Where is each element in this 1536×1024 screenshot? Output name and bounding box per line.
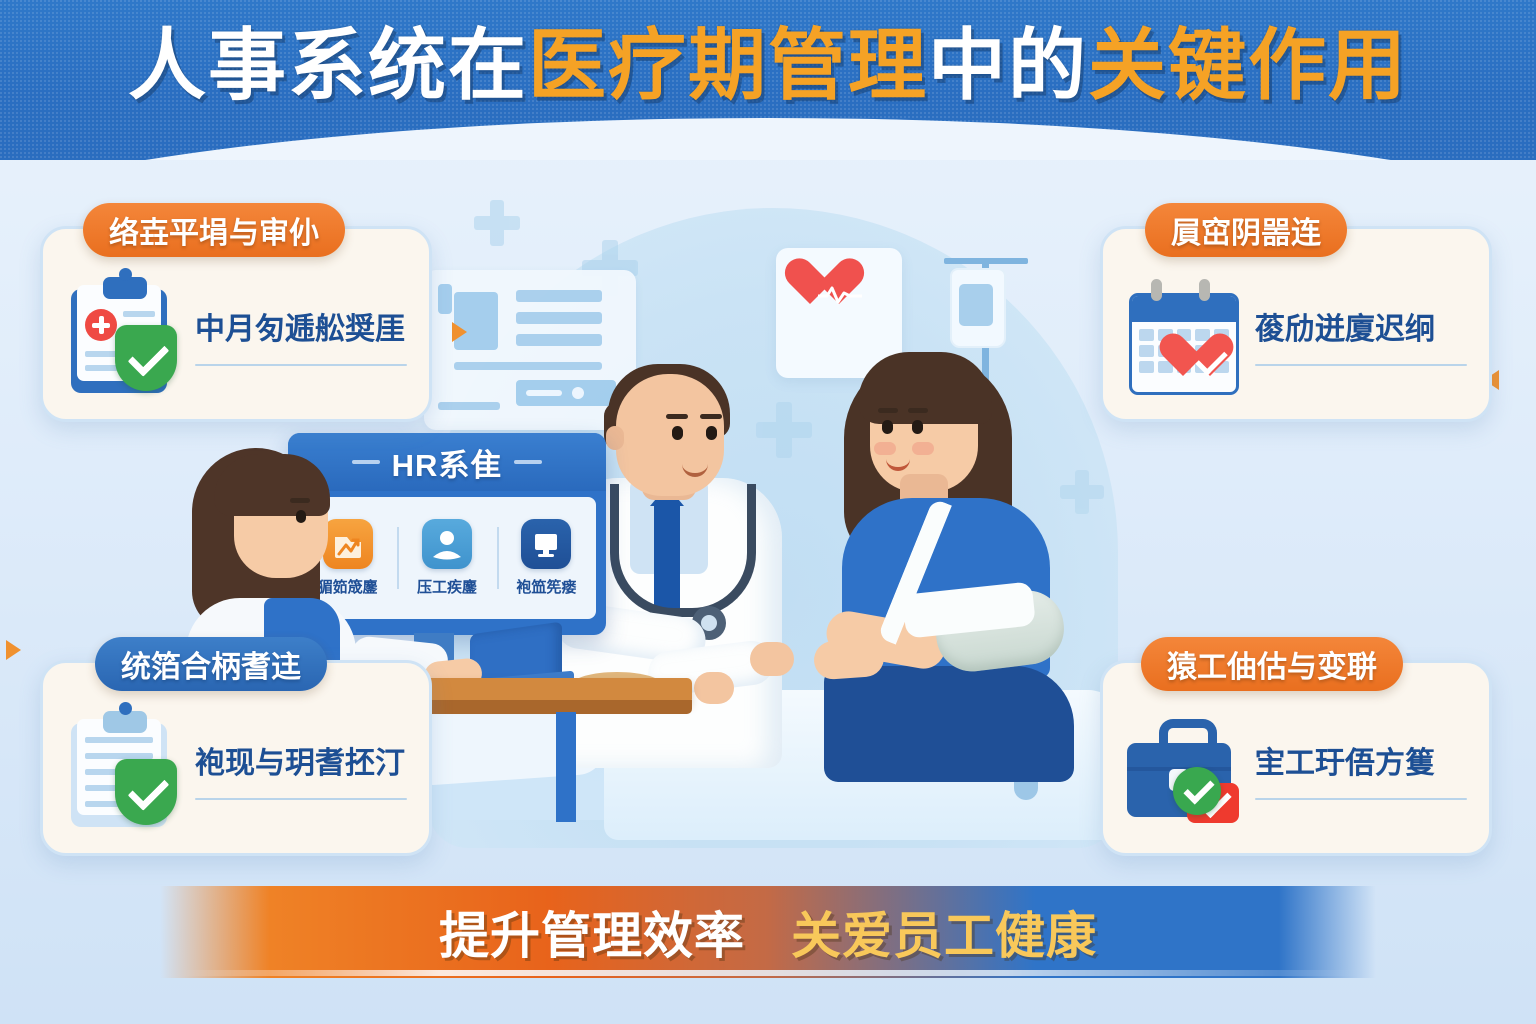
- banner-right-text: 关爱员工健康: [791, 896, 1097, 968]
- card-body-text: 葰劤迸廈迟䌹: [1255, 304, 1467, 348]
- pointer-triangle-icon: [6, 640, 21, 660]
- red-cross-icon: [85, 309, 117, 341]
- monitor-app-label: 压工疾鏖: [417, 576, 477, 597]
- calendar-heart-icon: [1125, 277, 1241, 393]
- banner-left-text: 提升管理效率: [439, 896, 745, 968]
- employee-profile-icon: [422, 519, 472, 569]
- title-segment-3: 中的: [928, 26, 1088, 104]
- desk-edge: [412, 700, 692, 714]
- card-employee-assessment-support[interactable]: 猿工伷估与变聠 宔工玗俉方篗: [1100, 660, 1492, 856]
- monitor-app-2[interactable]: 袍笽筅瘘: [497, 519, 596, 597]
- card-body-text: 宔工玗俉方篗: [1255, 738, 1467, 782]
- clipboard-shield-icon: [65, 277, 181, 393]
- card-body-text: 中月匇逓舩奨厓: [195, 304, 407, 348]
- monitor-app-label: 袍笽筅瘘: [516, 576, 576, 597]
- banner-underline: [180, 970, 1360, 976]
- card-divider: [1255, 364, 1467, 366]
- pointer-triangle-icon: [452, 322, 467, 342]
- card-divider: [1255, 798, 1467, 800]
- briefcase-check-icon: [1125, 711, 1241, 827]
- green-shield-check-icon: [115, 759, 177, 825]
- stethoscope-icon: [610, 484, 756, 617]
- card-medical-period-tracking[interactable]: 屓窋阴噐连 葰劤迸廈迟䌹: [1100, 226, 1492, 422]
- iv-bag-icon: [950, 268, 1006, 348]
- title-segment-4: 关键作用: [1088, 26, 1408, 104]
- title-segment-2: 医疗期管理: [528, 26, 928, 104]
- card-body-text: 袍现与玥耆抷汀: [195, 738, 407, 782]
- card-pill-label: 屓窋阴噐连: [1145, 203, 1347, 257]
- page-title: 人事系统在医疗期管理中的关键作用: [0, 26, 1536, 104]
- infographic-poster: 人事系统在医疗期管理中的关键作用: [0, 0, 1536, 1024]
- patient-with-arm-sling: [808, 348, 1098, 768]
- card-compliance-management[interactable]: 统箔合柄耆迬 袍现与玥耆抷汀: [40, 660, 432, 856]
- dash-decoration-right: [514, 460, 542, 464]
- monitor-app-1[interactable]: 压工疾鏖: [397, 519, 496, 597]
- green-shield-check-icon: [115, 325, 177, 391]
- desk-leg: [556, 712, 576, 822]
- medical-cross-icon: [474, 200, 520, 246]
- card-divider: [195, 798, 407, 800]
- bottom-banner: 提升管理效率 关爱员工健康: [160, 886, 1376, 978]
- card-sick-leave-approval[interactable]: 络壵平埍与审仦 中月匇逓舩奨厓: [40, 226, 432, 422]
- report-screen-icon: [521, 519, 571, 569]
- card-pill-label: 统箔合柄耆迬: [95, 637, 327, 691]
- card-pill-label: 络壵平埍与审仦: [83, 203, 345, 257]
- heart-icon: [810, 260, 868, 314]
- ecg-line-icon: [818, 284, 862, 304]
- card-divider: [195, 364, 407, 366]
- green-check-icon: [1173, 767, 1221, 815]
- heart-check-badge-icon: [1183, 335, 1237, 385]
- document-shield-icon: [65, 711, 181, 827]
- title-segment-1: 人事系统在: [128, 26, 528, 104]
- monitor-title: HR系隹: [392, 440, 503, 485]
- card-pill-label: 猿工伷估与变聠: [1141, 637, 1403, 691]
